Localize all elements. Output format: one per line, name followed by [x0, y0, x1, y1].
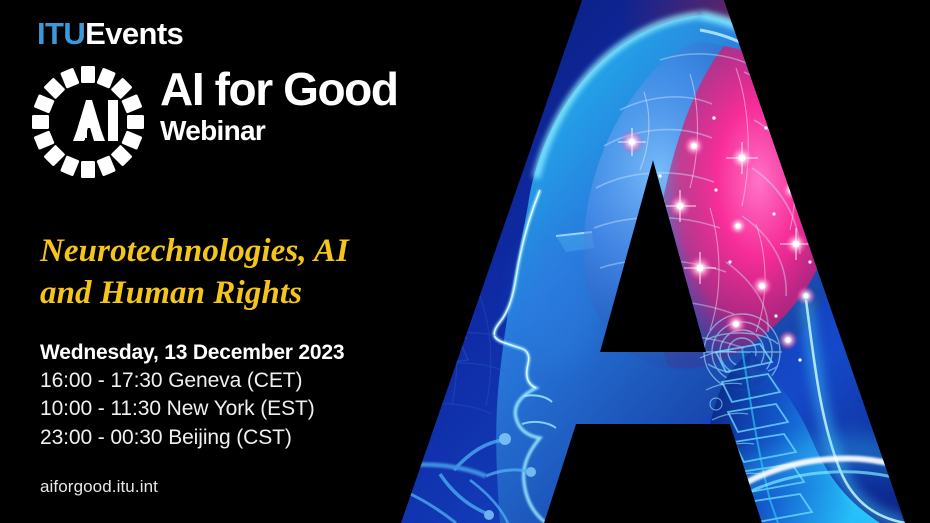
- events-logo-text: Events: [85, 16, 183, 51]
- event-title-line-2: and Human Rights: [40, 273, 440, 315]
- neck-and-spine: [690, 300, 930, 523]
- face-profile: [494, 190, 600, 523]
- logo-wordmark: AI for Good Webinar: [160, 66, 460, 147]
- brain: [583, 42, 834, 390]
- head-profile: [496, 15, 850, 523]
- timezone-row-new-york: 10:00 - 11:30 New York (EST): [40, 395, 450, 424]
- event-title: Neurotechnologies, AI and Human Rights: [40, 231, 440, 314]
- event-title-line-1: Neurotechnologies, AI: [40, 231, 440, 273]
- event-date: Wednesday, 13 December 2023: [40, 339, 450, 367]
- schedule-block: Wednesday, 13 December 2023 16:00 - 17:3…: [40, 339, 450, 452]
- text-column: ITUEvents: [0, 0, 470, 523]
- cerebellum: [704, 314, 782, 390]
- ai-monogram: [73, 100, 118, 141]
- logo-title: AI for Good: [160, 66, 460, 114]
- itu-logo-text: ITU: [37, 16, 85, 51]
- itu-events-logo: ITUEvents: [37, 18, 183, 49]
- timezone-row-geneva: 16:00 - 17:30 Geneva (CET): [40, 367, 450, 396]
- logo-subtitle: Webinar: [160, 116, 460, 147]
- ai-for-good-logo: AI for Good Webinar: [30, 64, 440, 179]
- ai-circle-icon: [30, 64, 146, 180]
- website-url[interactable]: aiforgood.itu.int: [40, 477, 158, 497]
- synapse-nodes: [618, 116, 816, 388]
- timezone-row-beijing: 23:00 - 00:30 Beijing (CST): [40, 424, 450, 453]
- webinar-promo-poster: ITUEvents: [0, 0, 930, 523]
